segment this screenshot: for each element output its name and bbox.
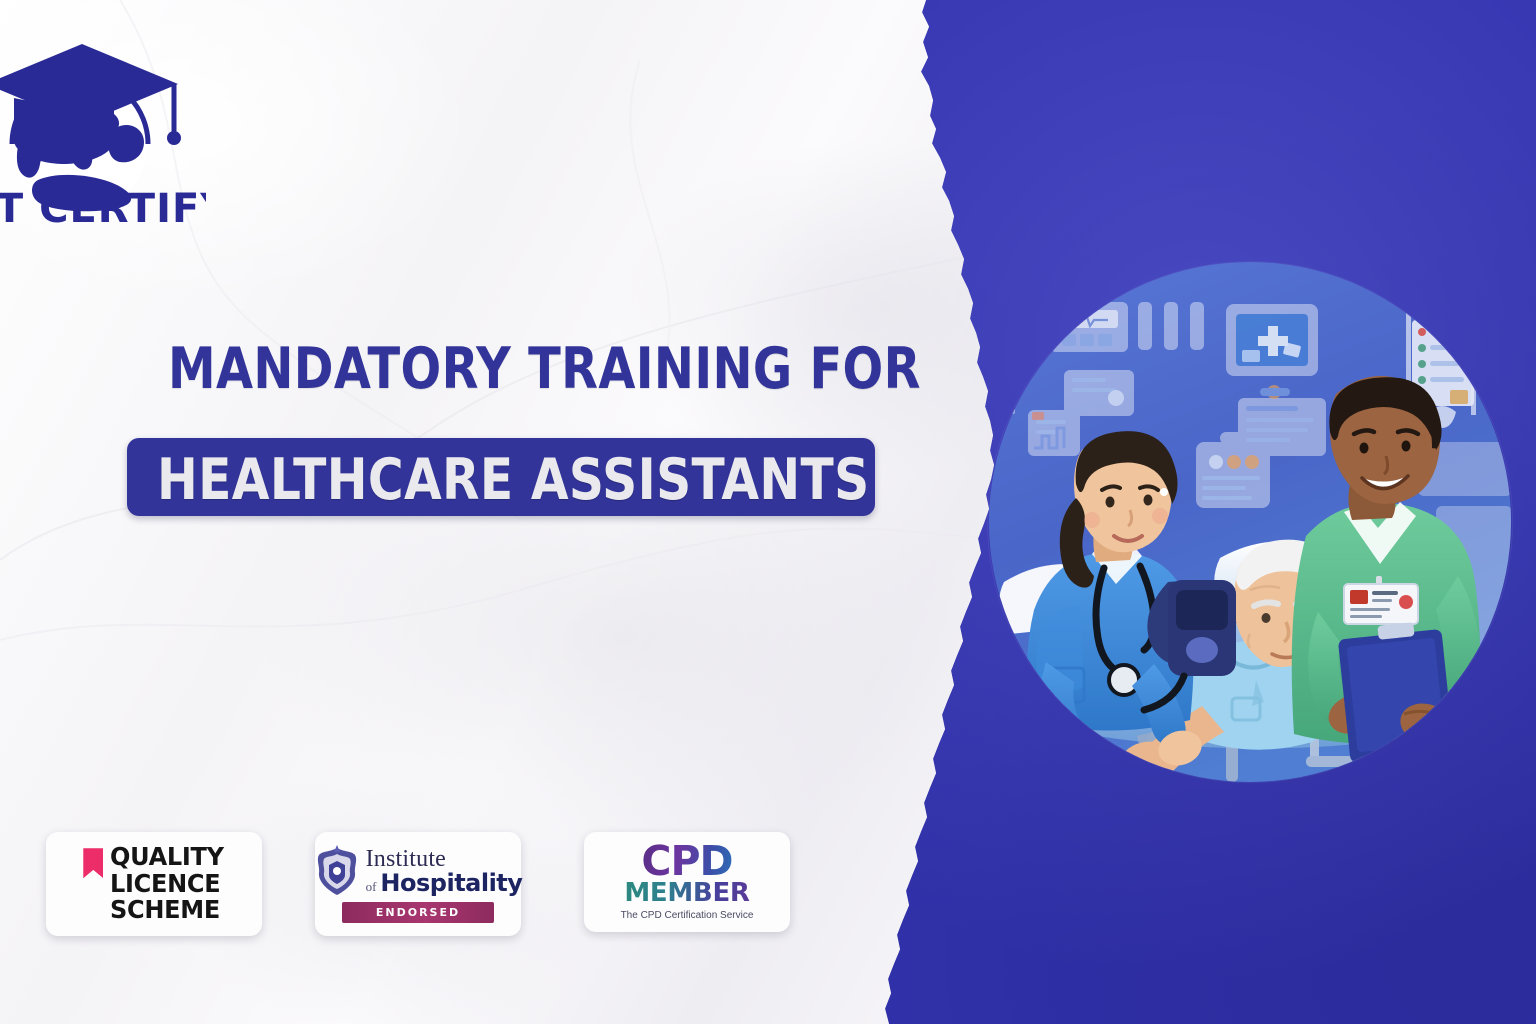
badge-qls-line-3: SCHEME <box>110 897 224 924</box>
accreditation-badge-row: QUALITY LICENCE SCHEME <box>46 832 790 936</box>
badge-qls-line-2: LICENCE <box>110 871 224 898</box>
bookmark-icon <box>83 848 103 878</box>
graduation-cap-globe-icon: GET CERTIFY <box>0 22 206 232</box>
badge-institute-of-hospitality[interactable]: Institute of Hospitality ENDORSED <box>315 832 521 936</box>
badge-ioh-line-hospitality: Hospitality <box>380 871 522 895</box>
badge-qls-text: QUALITY LICENCE SCHEME <box>110 844 224 924</box>
badge-cpd-subtitle: MEMBER <box>624 880 749 906</box>
hospital-scene-illustration <box>988 262 1512 782</box>
brand-logo[interactable]: GET CERTIFY <box>0 22 206 232</box>
badge-ioh-line-institute: Institute <box>366 847 523 871</box>
badge-cpd-member[interactable]: CPD MEMBER The CPD Certification Service <box>584 832 790 932</box>
logo-wordmark: GET CERTIFY <box>0 186 206 232</box>
badge-cpd-title: CPD <box>641 841 732 882</box>
poster-canvas: GET CERTIFY MANDATORY TRAINING FOR HEALT… <box>0 0 1536 1024</box>
healthcare-illustration <box>988 262 1512 782</box>
heraldic-crest-icon <box>314 845 360 897</box>
badge-quality-licence-scheme[interactable]: QUALITY LICENCE SCHEME <box>46 832 262 936</box>
badge-ioh-line-of: of <box>366 880 377 893</box>
page-title-line-1: MANDATORY TRAINING FOR <box>168 336 921 402</box>
badge-cpd-caption: The CPD Certification Service <box>621 910 754 923</box>
badge-qls-line-1: QUALITY <box>110 844 224 871</box>
page-title-line-2: HEALTHCARE ASSISTANTS <box>157 447 870 513</box>
badge-ioh-endorsed-ribbon: ENDORSED <box>342 902 494 923</box>
